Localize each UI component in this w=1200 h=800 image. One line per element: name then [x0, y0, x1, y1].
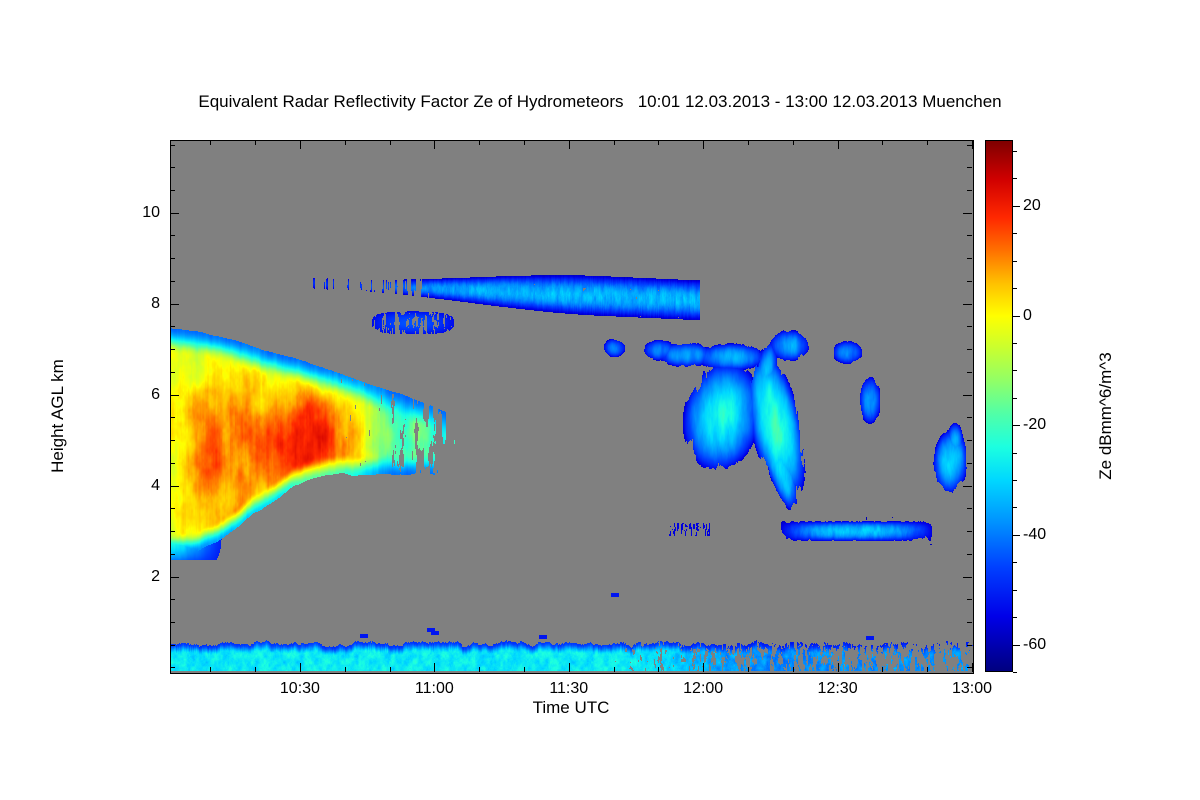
- x-tick: [972, 663, 973, 672]
- colorbar-tick: [1013, 645, 1020, 646]
- x-tick: [434, 140, 435, 149]
- colorbar-tick: [1013, 261, 1017, 262]
- y-tick-label: 2: [120, 568, 160, 586]
- y-tick: [967, 235, 972, 236]
- y-tick: [963, 395, 972, 396]
- y-tick: [170, 145, 175, 146]
- x-tick: [703, 140, 704, 149]
- colorbar-tick: [1013, 562, 1017, 563]
- y-tick: [170, 281, 175, 282]
- x-tick: [434, 663, 435, 672]
- x-tick: [390, 140, 391, 145]
- y-tick: [967, 190, 972, 191]
- colorbar-gradient: [985, 140, 1013, 672]
- x-tick: [838, 140, 839, 149]
- x-tick: [748, 667, 749, 672]
- reflectivity-heatmap: [171, 141, 973, 673]
- colorbar-tick: [1013, 398, 1017, 399]
- y-tick: [967, 463, 972, 464]
- y-tick: [967, 667, 972, 668]
- x-tick: [972, 140, 973, 149]
- y-tick: [967, 417, 972, 418]
- x-tick-label: 12:30: [818, 680, 858, 698]
- colorbar-tick: [1013, 507, 1017, 508]
- x-tick: [569, 663, 570, 672]
- x-tick: [614, 140, 615, 145]
- y-tick: [170, 440, 175, 441]
- x-tick: [479, 140, 480, 145]
- y-tick: [967, 531, 972, 532]
- y-tick: [170, 463, 175, 464]
- colorbar-tick: [1013, 425, 1020, 426]
- colorbar-tick: [1013, 453, 1017, 454]
- colorbar-tick-label: 20: [1023, 197, 1041, 215]
- radar-figure: Equivalent Radar Reflectivity Factor Ze …: [0, 0, 1200, 800]
- colorbar-tick: [1013, 590, 1017, 591]
- x-tick: [658, 667, 659, 672]
- y-tick: [170, 167, 175, 168]
- y-tick: [170, 372, 175, 373]
- y-tick: [170, 326, 175, 327]
- colorbar-label: Ze dBmm^6/m^3: [1096, 296, 1116, 536]
- y-tick: [170, 508, 175, 509]
- colorbar-tick: [1013, 178, 1017, 179]
- x-tick: [569, 140, 570, 149]
- x-tick: [300, 140, 301, 149]
- x-tick: [345, 140, 346, 145]
- colorbar-tick-label: -60: [1023, 636, 1046, 654]
- y-tick: [967, 554, 972, 555]
- x-tick: [524, 667, 525, 672]
- x-tick: [524, 140, 525, 145]
- colorbar-tick-label: -20: [1023, 416, 1046, 434]
- x-tick: [748, 140, 749, 145]
- y-tick: [170, 395, 179, 396]
- x-tick: [390, 667, 391, 672]
- colorbar-tick: [1013, 480, 1017, 481]
- x-tick: [255, 140, 256, 145]
- y-tick: [967, 440, 972, 441]
- y-tick-label: 4: [120, 477, 160, 495]
- colorbar-tick-label: -40: [1023, 526, 1046, 544]
- x-tick: [255, 667, 256, 672]
- colorbar-tick: [1013, 206, 1020, 207]
- colorbar-tick: [1013, 316, 1020, 317]
- x-tick: [838, 663, 839, 672]
- x-tick: [927, 667, 928, 672]
- y-tick: [967, 622, 972, 623]
- y-tick: [170, 645, 175, 646]
- x-tick-label: 11:00: [415, 680, 454, 698]
- y-tick: [967, 167, 972, 168]
- y-tick: [967, 599, 972, 600]
- y-tick: [967, 508, 972, 509]
- x-tick: [882, 667, 883, 672]
- y-tick: [170, 213, 179, 214]
- y-tick: [967, 645, 972, 646]
- y-tick: [967, 258, 972, 259]
- y-tick: [967, 349, 972, 350]
- x-tick: [658, 140, 659, 145]
- y-tick: [170, 190, 175, 191]
- y-tick: [170, 554, 175, 555]
- colorbar-tick-label: 0: [1023, 307, 1032, 325]
- x-tick: [210, 140, 211, 145]
- x-tick-label: 13:00: [952, 680, 992, 698]
- y-tick: [170, 417, 175, 418]
- colorbar-tick: [1013, 672, 1017, 673]
- x-tick-label: 11:30: [549, 680, 588, 698]
- y-tick: [967, 281, 972, 282]
- colorbar-tick: [1013, 288, 1017, 289]
- colorbar-tick: [1013, 617, 1017, 618]
- page-title: Equivalent Radar Reflectivity Factor Ze …: [0, 92, 1200, 112]
- x-tick: [882, 140, 883, 145]
- y-tick: [963, 577, 972, 578]
- radar-plot-area[interactable]: [170, 140, 974, 674]
- y-tick: [170, 577, 179, 578]
- colorbar-tick: [1013, 343, 1017, 344]
- y-tick: [967, 372, 972, 373]
- y-tick: [170, 235, 175, 236]
- y-tick: [170, 258, 175, 259]
- y-tick: [170, 486, 179, 487]
- colorbar-tick: [1013, 151, 1017, 152]
- colorbar-tick: [1013, 370, 1017, 371]
- y-tick: [963, 486, 972, 487]
- x-tick: [479, 667, 480, 672]
- x-tick: [345, 667, 346, 672]
- colorbar-tick: [1013, 535, 1020, 536]
- y-tick: [170, 622, 175, 623]
- x-tick: [210, 667, 211, 672]
- x-tick: [793, 140, 794, 145]
- x-tick: [614, 667, 615, 672]
- x-tick-label: 12:00: [683, 680, 723, 698]
- y-tick: [170, 599, 175, 600]
- x-tick: [927, 140, 928, 145]
- y-tick: [967, 326, 972, 327]
- x-axis-label: Time UTC: [170, 698, 972, 718]
- colorbar[interactable]: 200-20-40-60: [985, 140, 1013, 672]
- x-tick: [793, 667, 794, 672]
- y-tick-label: 10: [120, 204, 160, 222]
- y-tick: [967, 145, 972, 146]
- x-tick: [300, 663, 301, 672]
- y-tick: [170, 349, 175, 350]
- y-tick: [170, 531, 175, 532]
- y-tick: [963, 304, 972, 305]
- y-axis-label: Height AGL km: [48, 316, 68, 516]
- y-tick-label: 8: [120, 295, 160, 313]
- x-tick: [703, 663, 704, 672]
- y-tick-label: 6: [120, 386, 160, 404]
- x-tick-label: 10:30: [280, 680, 320, 698]
- colorbar-tick: [1013, 233, 1017, 234]
- y-tick: [170, 667, 175, 668]
- y-tick: [170, 304, 179, 305]
- y-tick: [963, 213, 972, 214]
